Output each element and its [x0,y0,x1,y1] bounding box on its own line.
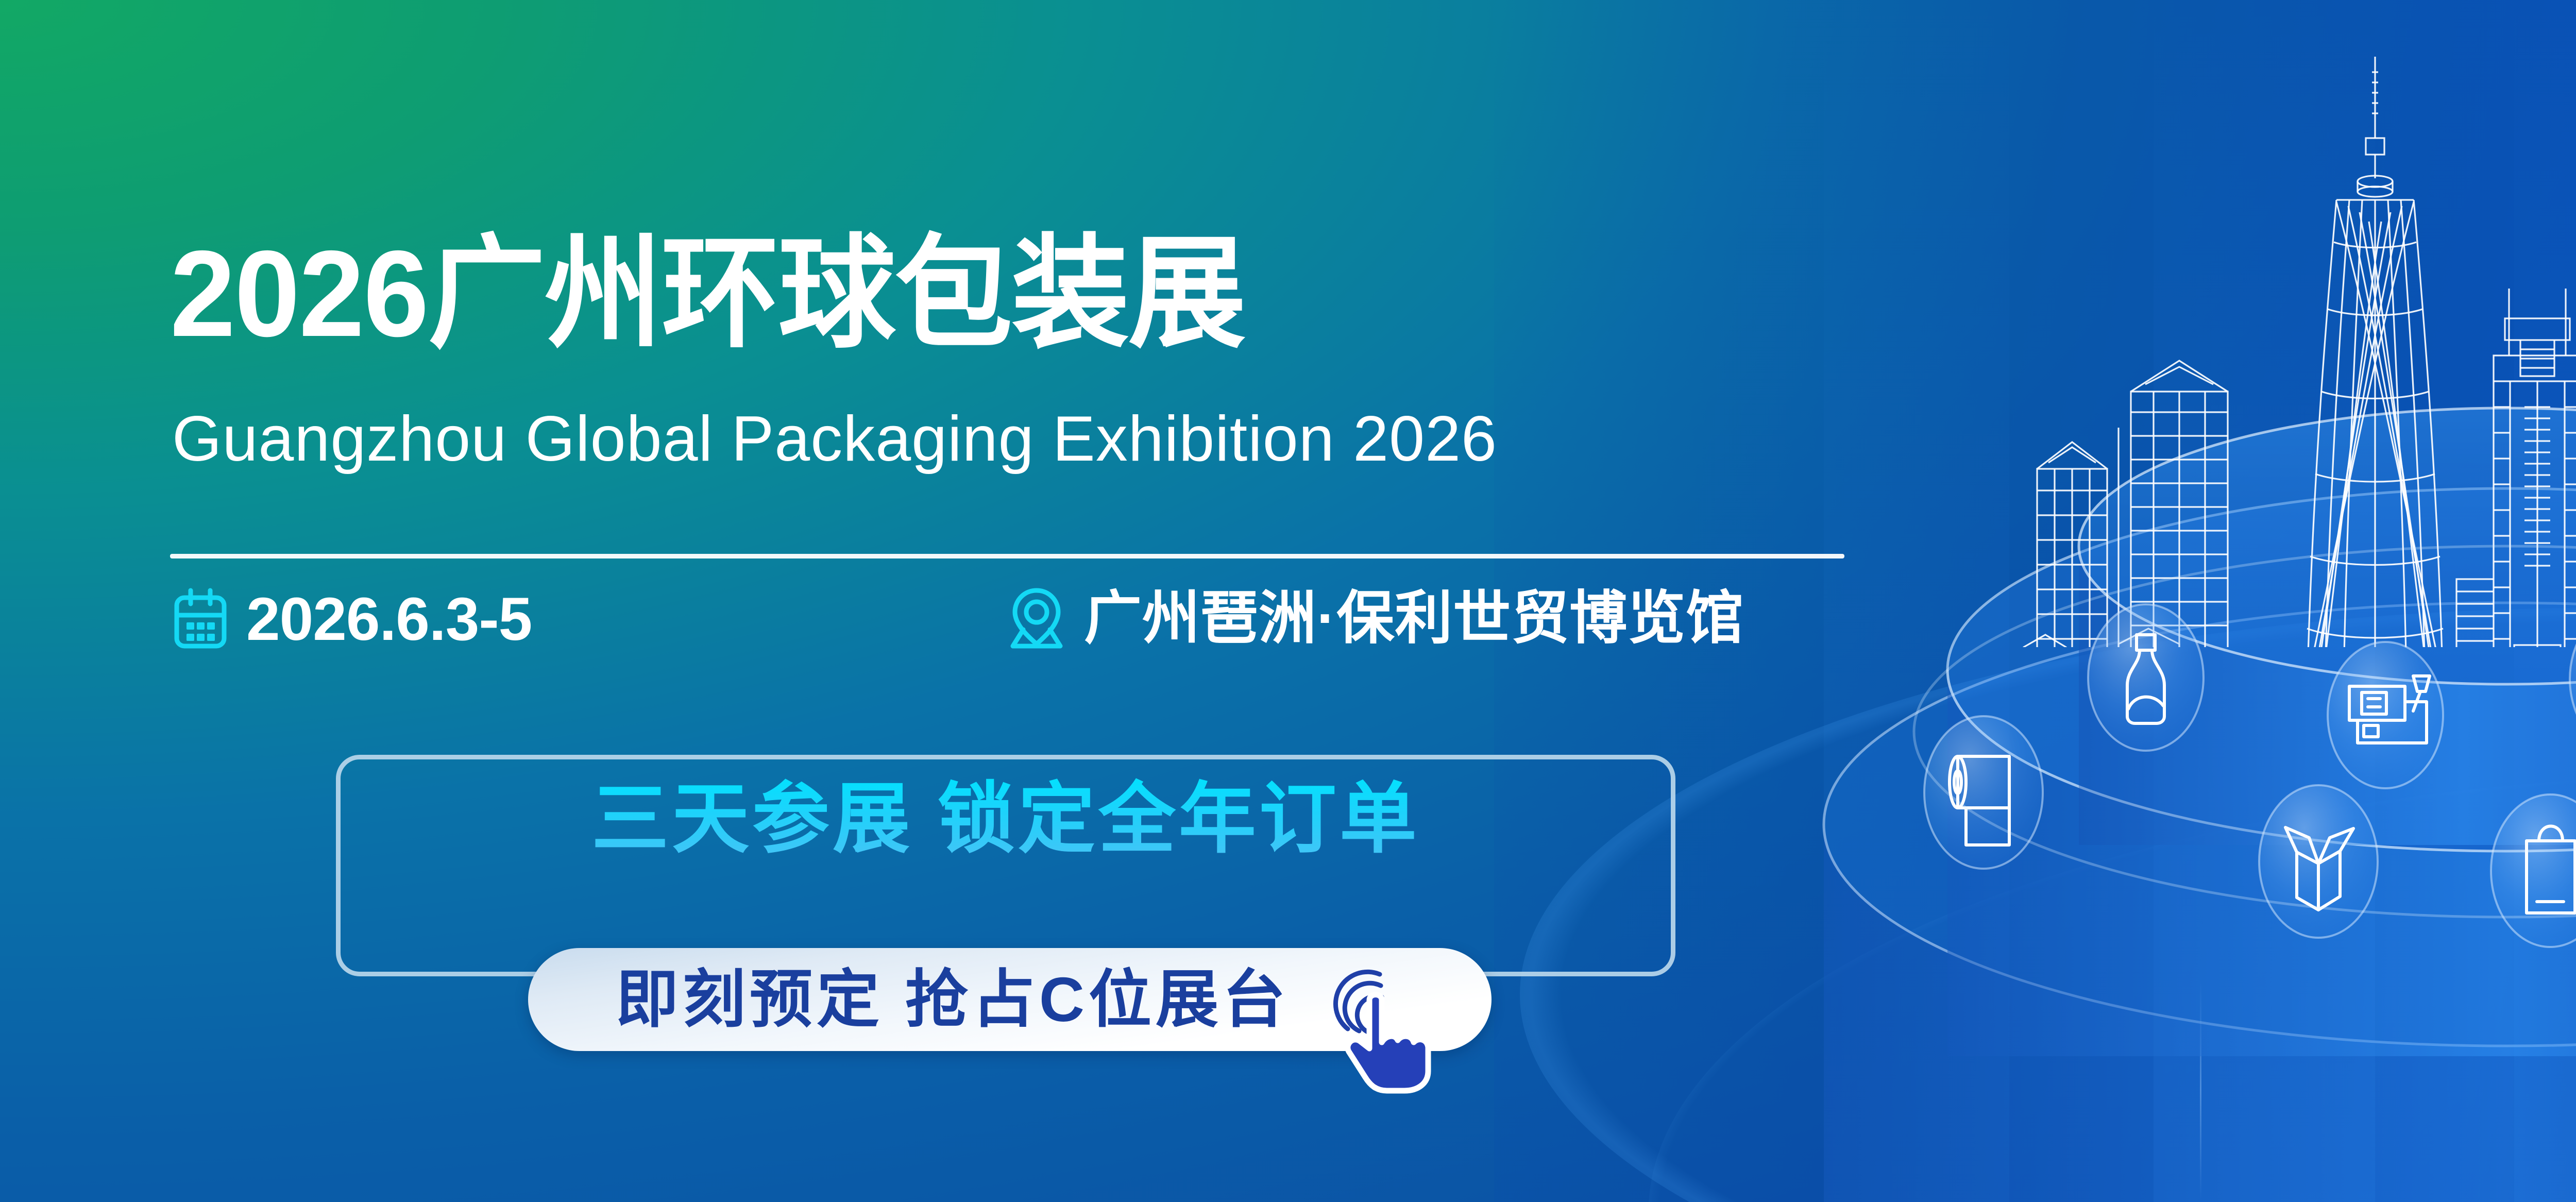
slogan-text: 三天参展 锁定全年订单 [336,775,1675,862]
event-date-text: 2026.6.3-5 [246,589,532,650]
banner-copy-column: 2026广州环球包装展 Guangzhou Global Packaging E… [0,0,1906,1202]
title-divider [170,554,1844,558]
icon-chip-paper-roll [1924,716,2043,869]
location-pin-icon [1005,584,1069,652]
icon-chip-printing-machine [2328,642,2443,788]
illustration-guangzhou-skyline-podium [1793,0,2576,1202]
page-title: 2026广州环球包装展 [170,233,1245,355]
event-location-text: 广州琶洲·保利世贸博览馆 [1084,589,1744,647]
cta-label: 即刻预定 抢占C位展台 [616,968,1290,1031]
calendar-icon [170,586,231,652]
page-subtitle: Guangzhou Global Packaging Exhibition 20… [172,407,1497,471]
event-meta-row: 2026.6.3-5 广州琶洲·保利世贸博览馆 [170,582,1850,680]
event-location: 广州琶洲·保利世贸博览馆 [1005,584,1744,652]
exhibition-banner: 2026广州环球包装展 Guangzhou Global Packaging E… [0,0,2576,1202]
tap-hand-icon [1329,956,1463,1095]
event-date: 2026.6.3-5 [170,586,532,652]
icon-chip-bottle [2088,604,2204,751]
icon-chip-open-box [2259,785,2378,938]
